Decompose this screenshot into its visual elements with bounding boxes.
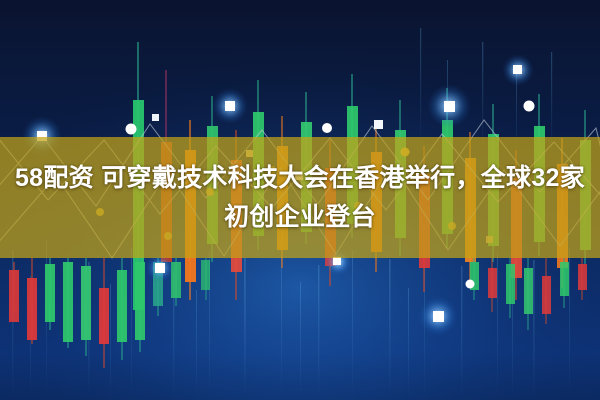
news-banner: 58配资 可穿戴技术科技大会在香港举行，全球32家初创企业登台 [0, 0, 600, 400]
headline-container: 58配资 可穿戴技术科技大会在香港举行，全球32家初创企业登台 [0, 137, 600, 258]
headline-text: 58配资 可穿戴技术科技大会在香港举行，全球32家初创企业登台 [14, 159, 586, 237]
